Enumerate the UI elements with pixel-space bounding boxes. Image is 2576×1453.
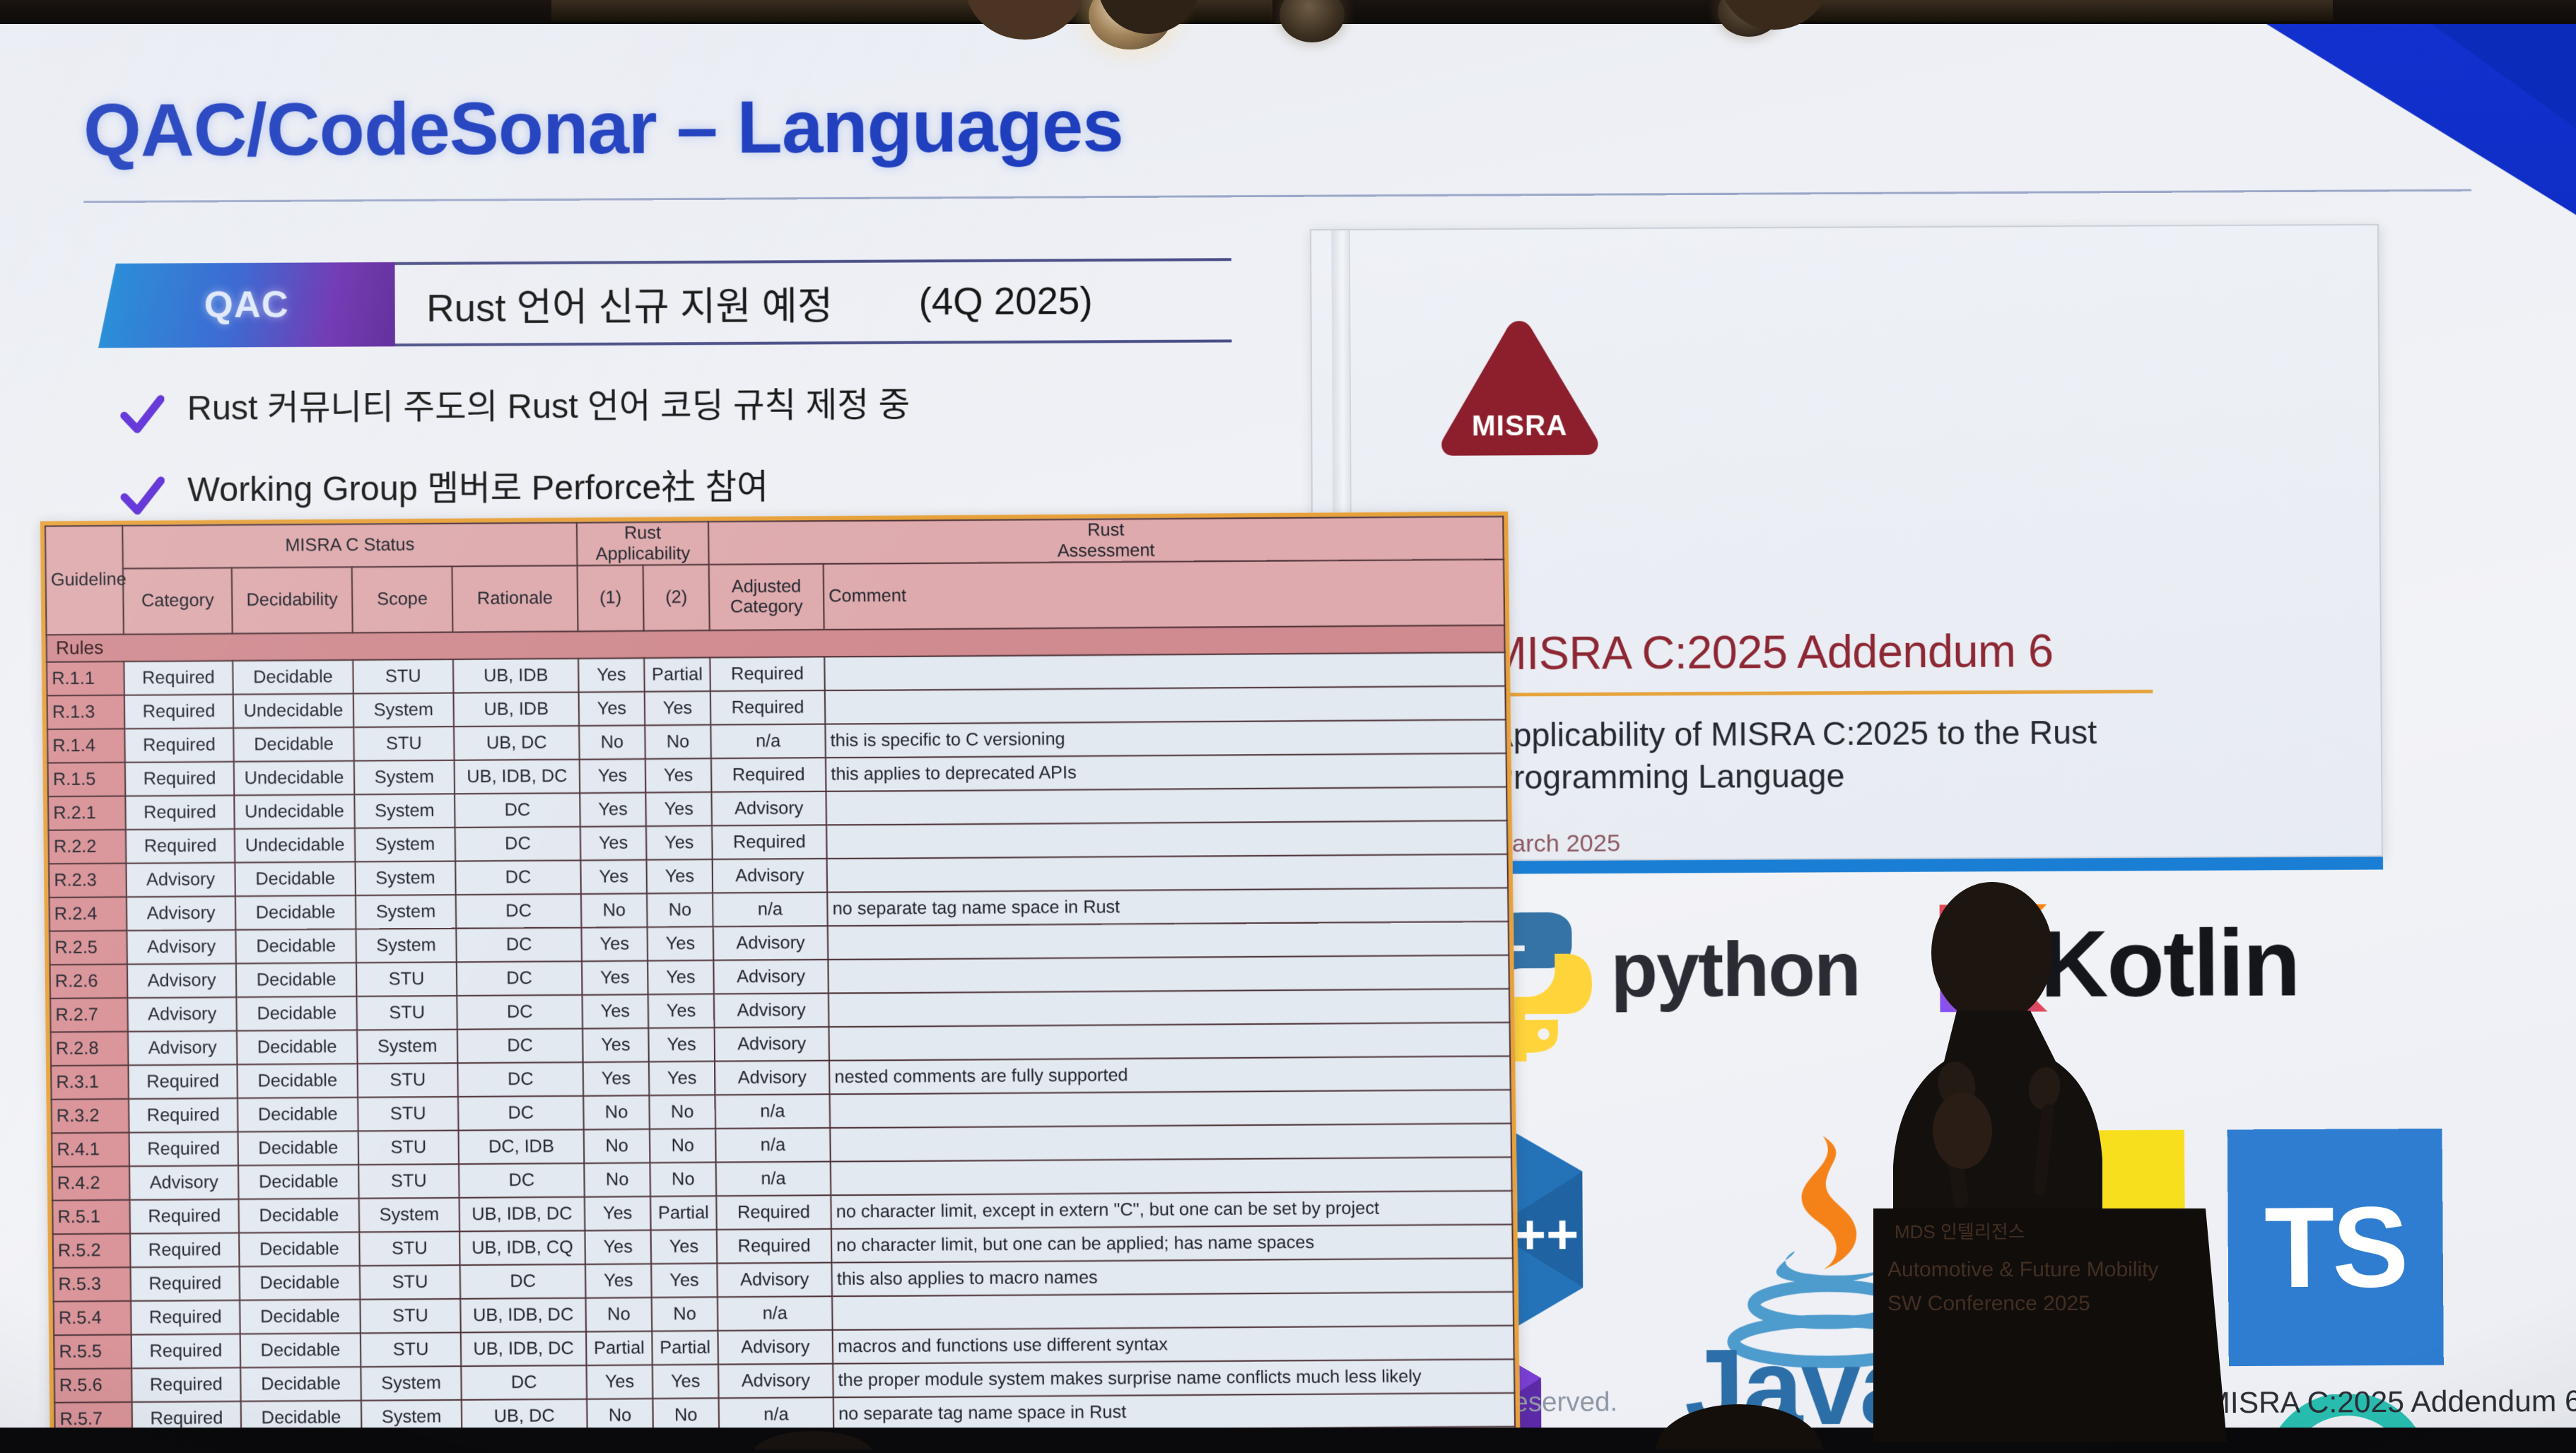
scope-cell: STU (356, 962, 457, 996)
qac-badge-label: QAC (204, 283, 289, 327)
python-wordmark: python (1610, 924, 1860, 1014)
scope-cell: STU (353, 726, 454, 761)
audience-head-silhouette (1647, 1400, 1831, 1453)
adjusted-category-cell: n/a (719, 1397, 834, 1428)
rationale-cell: UB, IDB (453, 658, 579, 693)
comment-cell (826, 787, 1506, 825)
col-header-applicability-2: (2) (643, 564, 710, 630)
adjusted-category-cell: n/a (718, 1296, 833, 1331)
svg-text:MISRA: MISRA (1472, 409, 1568, 442)
decidability-cell: Decidable (238, 1097, 358, 1131)
document-title: MISRA C:2025 Addendum 6 (1489, 624, 2054, 680)
category-cell: Advisory (128, 1030, 237, 1065)
applicability-1-cell: Yes (580, 859, 647, 893)
adjusted-category-cell: n/a (715, 1127, 831, 1162)
scope-cell: System (359, 1197, 459, 1232)
applicability-2-cell: Yes (645, 691, 711, 725)
decidability-cell: Decidable (240, 1333, 361, 1367)
applicability-1-cell: No (579, 725, 645, 759)
comment-cell (829, 989, 1510, 1027)
rationale-cell: DC (457, 1028, 583, 1063)
applicability-2-cell: No (652, 1398, 719, 1428)
applicability-2-cell: Yes (648, 960, 714, 994)
applicability-2-cell: Yes (646, 859, 713, 893)
comment-cell (825, 686, 1506, 724)
rule-id-cell: R.1.5 (48, 762, 126, 796)
comment-cell (832, 1291, 1514, 1329)
speaker-silhouette: MDS 인텔리전스 Automotive & Future Mobility S… (1873, 876, 2326, 1435)
table-head: Guideline MISRA C Status RustApplicabili… (45, 517, 1504, 635)
scope-cell: STU (358, 1130, 459, 1165)
decidability-cell: Decidable (241, 1400, 362, 1428)
bullet-item: Working Group 멤버로 Perforce社 참여 (120, 469, 911, 519)
rationale-cell: UB, DC (454, 725, 580, 760)
category-cell: Advisory (127, 929, 235, 964)
category-cell: Required (125, 761, 234, 796)
applicability-2-cell: Yes (651, 1230, 718, 1264)
table: Guideline MISRA C Status RustApplicabili… (45, 516, 1516, 1428)
scope-cell: System (355, 827, 455, 861)
applicability-1-cell: No (583, 1095, 650, 1129)
comment-cell (827, 854, 1508, 892)
adjusted-category-cell: Required (711, 758, 826, 792)
decidability-cell: Undecidable (235, 828, 356, 862)
adjusted-category-cell: Required (712, 825, 827, 859)
rule-id-cell: R.4.2 (52, 1166, 130, 1200)
rationale-cell: UB, DC (462, 1399, 587, 1428)
audience-head-silhouette (1711, 0, 1838, 46)
decidability-cell: Decidable (235, 895, 356, 930)
podium-line1-label: Automotive & Future Mobility (1887, 1258, 2158, 1281)
decidability-cell: Undecidable (233, 693, 354, 728)
col-header-decidability: Decidability (232, 567, 353, 633)
check-icon (120, 394, 165, 438)
scope-cell: System (353, 693, 454, 727)
decidability-cell: Decidable (238, 1131, 358, 1165)
qac-headline-bar: Rust 언어 신규 지원 예정 (4Q 2025) (394, 258, 1231, 346)
col-header-guideline: Guideline (45, 526, 124, 635)
decidability-cell: Decidable (237, 1064, 358, 1098)
adjusted-category-cell: n/a (713, 892, 828, 926)
comment-cell (826, 820, 1507, 859)
decidability-cell: Decidable (236, 963, 357, 997)
category-cell: Required (131, 1334, 241, 1368)
adjusted-category-cell: Required (717, 1228, 832, 1263)
applicability-1-cell: No (584, 1163, 650, 1196)
rationale-cell: DC, IDB (458, 1129, 584, 1164)
rule-id-cell: R.2.3 (49, 863, 127, 897)
applicability-1-cell: Yes (585, 1264, 652, 1298)
rule-id-cell: R.5.7 (54, 1401, 132, 1428)
scope-cell: STU (358, 1096, 458, 1131)
rule-id-cell: R.1.1 (47, 661, 124, 695)
scope-cell: System (354, 794, 455, 828)
adjusted-category-cell: Advisory (713, 959, 829, 994)
category-cell: Required (130, 1233, 240, 1267)
rationale-cell: UB, IDB, DC (459, 1196, 585, 1231)
ceiling-beam (1753, 0, 2333, 21)
scope-cell: STU (359, 1231, 459, 1266)
rule-id-cell: R.2.1 (48, 796, 126, 830)
applicability-1-cell: Yes (587, 1365, 653, 1399)
decidability-cell: Decidable (239, 1232, 360, 1266)
category-cell: Required (131, 1300, 240, 1334)
rationale-cell: DC (457, 961, 582, 996)
rationale-cell: DC (457, 994, 582, 1029)
applicability-2-cell: No (647, 893, 713, 926)
document-subtitle: Applicability of MISRA C:2025 to the Rus… (1491, 711, 2136, 799)
decidability-cell: Decidable (240, 1266, 361, 1300)
decidability-cell: Decidable (235, 861, 356, 896)
adjusted-category-cell: n/a (710, 724, 826, 758)
document-title-rule (1491, 690, 2153, 697)
title-divider (83, 189, 2471, 204)
comment-cell: this applies to deprecated APIs (826, 753, 1506, 791)
adjusted-category-cell: n/a (715, 1094, 831, 1129)
comment-cell (824, 652, 1505, 690)
adjusted-category-cell: Advisory (718, 1363, 833, 1398)
scope-cell: STU (358, 1164, 459, 1199)
applicability-2-cell: Yes (651, 1263, 718, 1297)
decidability-cell: Decidable (239, 1198, 360, 1233)
col-group-rust-assessment: RustAssessment (708, 517, 1504, 565)
applicability-1-cell: Yes (580, 826, 647, 860)
rationale-cell: DC (455, 860, 581, 895)
category-cell: Required (124, 661, 233, 695)
category-cell: Required (131, 1266, 240, 1301)
comment-cell: no character limit, except in extern "C"… (831, 1190, 1512, 1228)
comment-cell: no character limit, but one can be appli… (831, 1224, 1513, 1262)
rationale-cell: DC (460, 1264, 586, 1298)
rule-id-cell: R.5.3 (53, 1267, 131, 1301)
applicability-1-cell: Yes (580, 758, 646, 792)
comment-cell: the proper module system makes surprise … (833, 1359, 1514, 1397)
qac-headline: Rust 언어 신규 지원 예정 (426, 274, 833, 333)
applicability-2-cell: Yes (649, 1061, 715, 1095)
rule-id-cell: R.4.1 (52, 1132, 129, 1166)
adjusted-category-cell: n/a (716, 1161, 831, 1196)
category-cell: Required (128, 1064, 237, 1099)
scope-cell: STU (361, 1332, 461, 1367)
applicability-1-cell: Yes (581, 926, 648, 960)
decidability-cell: Decidable (233, 659, 353, 694)
comment-cell: macros and functions use different synta… (833, 1325, 1514, 1363)
adjusted-category-cell: Advisory (713, 859, 828, 893)
applicability-1-cell: Yes (578, 658, 645, 692)
rationale-cell: UB, IDB (453, 692, 579, 726)
rule-id-cell: R.3.2 (52, 1098, 129, 1132)
comment-cell (830, 1123, 1511, 1161)
category-cell: Advisory (127, 963, 236, 998)
applicability-1-cell: Yes (582, 994, 649, 1028)
scope-cell: System (361, 1366, 461, 1401)
applicability-1-cell: Yes (582, 1028, 649, 1061)
rule-id-cell: R.2.2 (49, 829, 127, 863)
applicability-2-cell: Partial (652, 1331, 718, 1365)
adjusted-category-cell: Advisory (718, 1329, 833, 1364)
bullet-text: Rust 커뮤니티 주도의 Rust 언어 코딩 규칙 제정 중 (187, 387, 911, 428)
rationale-cell: DC (458, 1095, 584, 1130)
applicability-1-cell: Partial (586, 1331, 652, 1365)
scope-cell: STU (357, 995, 457, 1030)
rationale-cell: DC (461, 1365, 587, 1399)
applicability-2-cell: No (650, 1129, 716, 1163)
rule-id-cell: R.5.5 (54, 1334, 131, 1368)
decidability-cell: Decidable (240, 1367, 361, 1401)
applicability-2-cell: No (652, 1297, 718, 1331)
rationale-cell: DC (455, 826, 581, 861)
scope-cell: STU (360, 1265, 460, 1300)
audience-head-silhouette (954, 0, 1096, 52)
comment-cell (828, 955, 1509, 993)
applicability-2-cell: Yes (648, 926, 714, 960)
adjusted-category-cell: Advisory (714, 1027, 829, 1061)
adjusted-category-cell: Advisory (714, 993, 829, 1028)
copyright-fragment: reserved. (1504, 1387, 1618, 1418)
svg-text:++: ++ (1514, 1203, 1579, 1266)
scope-cell: STU (358, 1063, 458, 1098)
applicability-1-cell: No (584, 1129, 650, 1163)
rationale-cell: UB, IDB, DC (455, 759, 580, 794)
bullet-item: Rust 커뮤니티 주도의 Rust 언어 코딩 규칙 제정 중 (120, 387, 911, 437)
category-cell: Required (131, 1367, 241, 1402)
bullet-text: Working Group 멤버로 Perforce社 참여 (187, 469, 768, 510)
rule-id-cell: R.2.5 (49, 930, 127, 964)
rule-id-cell: R.2.4 (49, 897, 127, 931)
rule-id-cell: R.1.4 (47, 729, 125, 763)
rule-id-cell: R.5.1 (52, 1199, 130, 1233)
adjusted-category-cell: Required (716, 1195, 831, 1230)
applicability-2-cell: Partial (650, 1196, 717, 1230)
podium-line2-label: SW Conference 2025 (1887, 1292, 2090, 1315)
category-cell: Advisory (129, 1165, 238, 1200)
category-cell: Required (129, 1131, 238, 1166)
comment-cell: nested comments are fully supported (829, 1056, 1511, 1094)
decidability-cell: Decidable (238, 1165, 359, 1199)
rationale-cell: DC (455, 793, 580, 828)
qac-badge: QAC (98, 262, 395, 348)
decidability-cell: Decidable (236, 996, 357, 1030)
decidability-cell: Undecidable (234, 794, 355, 829)
applicability-1-cell: Yes (580, 792, 646, 826)
col-group-misra-c-status: MISRA C Status (122, 523, 577, 568)
applicability-1-cell: Yes (585, 1230, 651, 1264)
comment-cell (829, 1022, 1510, 1060)
podium-org-label: MDS 인텔리전스 (1895, 1221, 2025, 1242)
category-cell: Required (124, 728, 233, 763)
applicability-2-cell: Yes (646, 825, 713, 859)
decidability-cell: Decidable (235, 929, 356, 963)
audience-head-silhouette (1089, 0, 1209, 49)
applicability-2-cell: Yes (648, 994, 715, 1028)
adjusted-category-cell: Required (710, 657, 825, 691)
scope-cell: STU (360, 1298, 460, 1333)
rationale-cell: DC (459, 1163, 585, 1197)
comment-cell: no separate tag name space in Rust (827, 888, 1509, 926)
category-cell: Advisory (127, 896, 235, 931)
applicability-2-cell: No (650, 1162, 716, 1196)
applicability-2-cell: No (645, 724, 711, 758)
rule-id-cell: R.2.7 (50, 998, 128, 1032)
applicability-2-cell: Yes (648, 1028, 715, 1061)
applicability-2-cell: Partial (644, 657, 710, 691)
rationale-cell: DC (457, 1062, 583, 1097)
adjusted-category-cell: Advisory (717, 1262, 832, 1297)
category-cell: Required (132, 1401, 242, 1428)
comment-cell (830, 1089, 1511, 1127)
rationale-cell: UB, IDB, DC (460, 1298, 586, 1332)
decidability-cell: Decidable (237, 1030, 358, 1064)
comment-cell: this also applies to macro names (831, 1258, 1513, 1296)
applicability-1-cell: Yes (585, 1196, 651, 1230)
conference-room-photo: QAC/CodeSonar – Languages QAC Rust 언어 신규… (0, 0, 2576, 1453)
category-cell: Advisory (127, 997, 236, 1032)
rule-id-cell: R.5.6 (54, 1368, 132, 1402)
decidability-cell: Decidable (240, 1299, 361, 1334)
category-cell: Required (129, 1098, 238, 1132)
applicability-2-cell: No (649, 1095, 715, 1129)
scope-cell: STU (353, 659, 453, 693)
check-icon (120, 475, 165, 519)
category-cell: Advisory (126, 862, 235, 897)
page-title: QAC/CodeSonar – Languages (83, 83, 1123, 173)
applicability-1-cell: Yes (583, 1061, 650, 1095)
table-header-row-sub: Category Decidability Scope Rationale (1… (46, 559, 1505, 635)
col-header-applicability-1: (1) (578, 565, 644, 631)
applicability-1-cell: No (581, 893, 648, 927)
adjusted-category-cell: Required (710, 690, 826, 725)
col-header-rationale: Rationale (452, 565, 578, 632)
applicability-1-cell: Yes (579, 691, 645, 725)
col-header-scope: Scope (352, 566, 453, 633)
scope-cell: System (357, 1029, 457, 1064)
rule-id-cell: R.3.1 (51, 1065, 129, 1099)
rule-id-cell: R.5.4 (54, 1300, 131, 1334)
applicability-2-cell: Yes (645, 758, 712, 792)
scope-cell: System (355, 861, 455, 895)
decidability-cell: Decidable (233, 727, 354, 762)
rationale-cell: DC (456, 893, 582, 928)
comment-cell: this is specific to C versioning (825, 719, 1506, 758)
decidability-cell: Undecidable (234, 760, 355, 795)
rule-id-cell: R.2.6 (50, 964, 128, 998)
col-header-category: Category (123, 567, 233, 634)
scope-cell: System (361, 1399, 462, 1428)
comment-cell (831, 1157, 1512, 1195)
misra-rust-applicability-table: Guideline MISRA C Status RustApplicabili… (40, 512, 1520, 1428)
adjusted-category-cell: Advisory (713, 926, 829, 960)
adjusted-category-cell: Advisory (715, 1060, 830, 1095)
comment-cell: no separate tag name space in Rust (833, 1392, 1515, 1428)
col-group-rust-applicability: RustApplicability (577, 522, 709, 565)
rationale-cell: UB, IDB, DC (461, 1331, 587, 1366)
applicability-2-cell: Yes (652, 1364, 719, 1398)
rule-id-cell: R.1.3 (47, 695, 125, 729)
applicability-2-cell: Yes (645, 792, 712, 825)
comment-cell (828, 921, 1509, 959)
scope-cell: System (356, 895, 456, 929)
category-cell: Required (130, 1199, 240, 1233)
applicability-1-cell: Yes (582, 960, 648, 994)
category-cell: Required (126, 828, 235, 863)
misra-logo-icon: MISRA (1437, 315, 1603, 462)
col-header-adjusted-category: AdjustedCategory (709, 563, 824, 630)
rationale-cell: UB, IDB, CQ (459, 1230, 585, 1265)
category-cell: Required (124, 694, 233, 729)
scope-cell: System (356, 928, 456, 963)
scope-cell: System (354, 760, 455, 794)
qac-quarter: (4Q 2025) (918, 278, 1092, 324)
table-body: RulesR.1.1RequiredDecidableSTUUB, IDBYes… (47, 625, 1516, 1428)
applicability-1-cell: No (587, 1399, 653, 1428)
category-cell: Required (125, 795, 234, 830)
adjusted-category-cell: Advisory (712, 791, 827, 825)
rule-id-cell: R.2.8 (51, 1031, 129, 1065)
col-header-comment: Comment (824, 559, 1505, 629)
applicability-1-cell: No (585, 1297, 652, 1331)
audience-head-silhouette (749, 1428, 877, 1453)
rationale-cell: DC (456, 927, 582, 962)
rule-id-cell: R.5.2 (53, 1233, 131, 1267)
